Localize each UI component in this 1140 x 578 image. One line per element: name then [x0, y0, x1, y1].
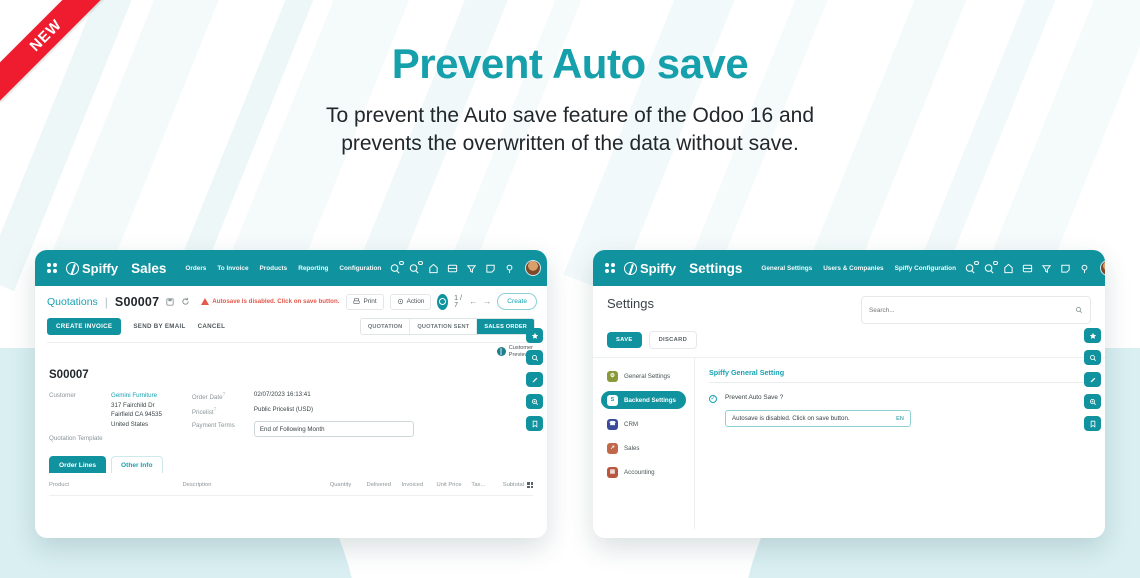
print-label: Print [363, 298, 376, 305]
payment-terms-input[interactable]: End of Following Month [254, 421, 414, 437]
warning-triangle-icon [201, 298, 209, 305]
globe-icon [497, 347, 506, 356]
sidebar-label-crm: CRM [624, 421, 638, 428]
create-invoice-button[interactable]: CREATE INVOICE [47, 318, 121, 335]
send-by-email-button[interactable]: SEND BY EMAIL [133, 323, 185, 330]
breadcrumb-row: Quotations | S00007 Autosave is disabled… [47, 293, 535, 310]
activities-icon[interactable] [984, 263, 995, 274]
sidebar-label-sales: Sales [624, 445, 639, 452]
messages-icon[interactable] [965, 263, 976, 274]
general-settings-icon: ⚙ [607, 371, 618, 382]
sidebar-item-sales[interactable]: ↗ Sales [601, 439, 686, 457]
menu-to-invoice[interactable]: To Invoice [217, 265, 248, 272]
statusbar-stages: QUOTATION QUOTATION SENT SALES ORDER [360, 318, 535, 335]
spiffy-logo-icon [624, 262, 637, 275]
bookmark-icon[interactable] [526, 416, 543, 431]
record-title: S00007 [49, 369, 533, 381]
menu-configuration[interactable]: Configuration [339, 265, 381, 272]
customer-address-line1: 317 Fairchild Dr [111, 402, 155, 409]
prevent-auto-save-label: Prevent Auto Save ? [725, 394, 783, 401]
quotation-template-field: Quotation Template [49, 434, 162, 442]
settings-main-panel: Spiffy General Setting ✓ Prevent Auto Sa… [695, 358, 1105, 529]
prevent-auto-save-checkbox[interactable]: ✓ [709, 395, 717, 403]
column-invoiced: Invoiced [401, 482, 436, 488]
systray [390, 260, 541, 276]
discard-icon[interactable] [181, 297, 190, 306]
bookmark-icon[interactable] [1084, 416, 1101, 431]
optional-columns-icon[interactable] [527, 482, 533, 488]
star-icon[interactable] [526, 328, 543, 343]
sales-navbar: Spiffy Sales Orders To Invoice Products … [35, 250, 547, 286]
section-title: Spiffy General Setting [709, 368, 1091, 377]
column-subtotal: Subtotal [503, 482, 533, 488]
pricelist-value[interactable]: Public Pricelist (USD) [254, 406, 313, 413]
autosave-message-value: Autosave is disabled. Click on save butt… [732, 415, 896, 422]
accounting-icon: ▤ [607, 467, 618, 478]
form-column-left: Customer Gemini Furniture 317 Fairchild … [49, 391, 162, 442]
current-app-name: Sales [131, 261, 166, 276]
sidebar-item-backend-settings[interactable]: S Backend Settings [601, 391, 686, 409]
settings-page-title: Settings [607, 296, 654, 311]
note-icon[interactable] [485, 263, 496, 274]
customer-label: Customer [49, 391, 103, 399]
section-divider [709, 382, 1091, 383]
pricelist-field: Pricelist? Public Pricelist (USD) [192, 406, 414, 416]
subtitle-line-1: To prevent the Auto save feature of the … [326, 104, 814, 127]
column-product: Product [49, 482, 182, 488]
prevent-auto-save-option: ✓ Prevent Auto Save ? [709, 394, 1091, 403]
settings-menu-bar: General Settings Users & Companies Spiff… [761, 265, 956, 272]
notebook-tabs: Order Lines Other Info [49, 456, 533, 473]
edit-pencil-icon[interactable] [1084, 372, 1101, 387]
sidebar-label-accounting: Accounting [624, 469, 655, 476]
autosave-message-input[interactable]: Autosave is disabled. Click on save butt… [725, 410, 911, 427]
menu-general-settings[interactable]: General Settings [761, 265, 812, 272]
sidebar-item-accounting[interactable]: ▤ Accounting [601, 463, 686, 481]
spiffy-backend-icon: S [607, 395, 618, 406]
column-tax: Tax... [471, 482, 502, 488]
brand-logo[interactable]: Spiffy [624, 261, 676, 276]
payment-terms-label: Payment Terms [192, 421, 246, 429]
order-date-field: Order Date? 02/07/2023 16:13:41 [192, 391, 414, 401]
sales-icon: ↗ [607, 443, 618, 454]
messages-icon[interactable] [390, 263, 401, 274]
pager-counter: 1 / 7 [454, 295, 463, 309]
sidebar-item-general-settings[interactable]: ⚙ General Settings [601, 367, 686, 385]
create-button[interactable]: Create [497, 293, 537, 310]
star-icon[interactable] [1084, 328, 1101, 343]
settings-actions: SAVE DISCARD [593, 324, 1105, 357]
column-quantity: Quantity [330, 482, 367, 488]
settings-header: Settings [593, 286, 1105, 324]
sidebar-label-backend-settings: Backend Settings [624, 397, 676, 404]
breadcrumb-separator: | [105, 295, 108, 309]
shop-icon[interactable] [428, 263, 439, 274]
record-sheet: Customer Preview S00007 Customer Gemini … [35, 343, 547, 496]
order-date-value[interactable]: 02/07/2023 16:13:41 [254, 391, 311, 398]
systray [965, 260, 1105, 276]
sales-menu-bar: Orders To Invoice Products Reporting Con… [185, 265, 381, 272]
order-date-label: Order Date? [192, 391, 246, 401]
column-description: Description [182, 482, 329, 488]
grid-icon[interactable] [447, 263, 458, 274]
status-bar-row: CREATE INVOICE SEND BY EMAIL CANCEL QUOT… [47, 318, 535, 343]
zoom-icon[interactable] [1084, 394, 1101, 409]
pin-icon[interactable] [504, 263, 515, 274]
record-indicator-icon [437, 294, 448, 310]
settings-body: ⚙ General Settings S Backend Settings ☎ … [593, 357, 1105, 529]
menu-spiffy-configuration[interactable]: Spiffy Configuration [895, 265, 956, 272]
menu-users-companies[interactable]: Users & Companies [823, 265, 883, 272]
column-unit-price: Unit Price [436, 482, 471, 488]
brand-logo[interactable]: Spiffy [66, 261, 118, 276]
zoom-icon[interactable] [526, 394, 543, 409]
customer-address-line2: Fairfield CA 94535 [111, 411, 162, 418]
new-ribbon-label: NEW [0, 0, 112, 102]
form-column-right: Order Date? 02/07/2023 16:13:41 Pricelis… [192, 391, 414, 442]
megaphone-icon[interactable] [1041, 263, 1052, 274]
sidebar-item-crm[interactable]: ☎ CRM [601, 415, 686, 433]
sales-floating-toolbar [526, 328, 543, 431]
language-tag[interactable]: EN [896, 416, 904, 422]
new-ribbon: NEW [0, 0, 120, 120]
avatar[interactable] [1100, 260, 1105, 276]
menu-products[interactable]: Products [260, 265, 288, 272]
note-icon[interactable] [1060, 263, 1071, 274]
customer-address-line3: United States [111, 421, 148, 428]
customer-field: Customer Gemini Furniture 317 Fairchild … [49, 391, 162, 429]
stage-quotation[interactable]: QUOTATION [361, 319, 411, 334]
sidebar-label-general-settings: General Settings [624, 373, 670, 380]
search-circle-icon[interactable] [1084, 350, 1101, 365]
menu-reporting[interactable]: Reporting [298, 265, 328, 272]
headline-block: Prevent Auto save To prevent the Auto sa… [0, 0, 1140, 158]
page-title: Prevent Auto save [0, 40, 1140, 88]
settings-floating-toolbar [1084, 328, 1101, 431]
apps-menu-icon[interactable] [605, 263, 615, 273]
search-icon[interactable] [1075, 301, 1083, 319]
settings-navbar: Spiffy Settings General Settings Users &… [593, 250, 1105, 286]
action-button[interactable]: Action [390, 294, 432, 310]
discard-button[interactable]: DISCARD [649, 331, 698, 349]
pager-previous-icon[interactable]: ← [469, 297, 477, 306]
grid-icon[interactable] [1022, 263, 1033, 274]
print-button[interactable]: Print [346, 294, 383, 310]
brand-name: Spiffy [640, 261, 676, 276]
order-lines-table-header: Product Description Quantity Delivered I… [49, 482, 533, 496]
customer-name[interactable]: Gemini Furniture [111, 392, 157, 399]
payment-terms-field: Payment Terms End of Following Month [192, 421, 414, 437]
settings-sidebar: ⚙ General Settings S Backend Settings ☎ … [593, 358, 695, 529]
subtitle-line-2: prevents the overwritten of the data wit… [341, 132, 799, 155]
current-app-name: Settings [689, 261, 742, 276]
edit-pencil-icon[interactable] [526, 372, 543, 387]
search-circle-icon[interactable] [526, 350, 543, 365]
settings-search-box[interactable] [861, 296, 1091, 324]
save-button[interactable]: SAVE [607, 332, 642, 348]
pin-icon[interactable] [1079, 263, 1090, 274]
brand-name: Spiffy [82, 261, 118, 276]
quotation-template-label: Quotation Template [49, 434, 103, 442]
sales-app-screenshot: Spiffy Sales Orders To Invoice Products … [35, 250, 547, 538]
crm-icon: ☎ [607, 419, 618, 430]
activities-icon[interactable] [409, 263, 420, 274]
shop-icon[interactable] [1003, 263, 1014, 274]
tab-other-info[interactable]: Other Info [111, 456, 163, 473]
breadcrumb-parent[interactable]: Quotations [47, 296, 98, 308]
action-label: Action [407, 298, 425, 305]
search-input[interactable] [869, 307, 1069, 314]
save-icon[interactable] [166, 298, 174, 306]
screenshot-cards: Spiffy Sales Orders To Invoice Products … [0, 250, 1140, 538]
settings-app-screenshot: Spiffy Settings General Settings Users &… [593, 250, 1105, 538]
page-subtitle: To prevent the Auto save feature of the … [0, 102, 1140, 158]
stage-quotation-sent[interactable]: QUOTATION SENT [410, 319, 477, 334]
pricelist-label: Pricelist? [192, 406, 246, 416]
cancel-button[interactable]: CANCEL [198, 323, 226, 330]
tab-order-lines[interactable]: Order Lines [49, 456, 106, 473]
record-form: Customer Gemini Furniture 317 Fairchild … [49, 391, 533, 442]
column-delivered: Delivered [367, 482, 402, 488]
avatar[interactable] [525, 260, 541, 276]
control-panel: Quotations | S00007 Autosave is disabled… [35, 286, 547, 343]
pager-next-icon[interactable]: → [483, 297, 491, 306]
autosave-warning-text: Autosave is disabled. Click on save butt… [212, 298, 339, 305]
spiffy-logo-icon [66, 262, 79, 275]
control-panel-actions: Print Action 1 / 7 ← → Create [346, 293, 537, 310]
menu-orders[interactable]: Orders [185, 265, 206, 272]
apps-menu-icon[interactable] [47, 263, 57, 273]
autosave-warning: Autosave is disabled. Click on save butt… [201, 298, 339, 305]
breadcrumb-current: S00007 [115, 295, 159, 309]
megaphone-icon[interactable] [466, 263, 477, 274]
